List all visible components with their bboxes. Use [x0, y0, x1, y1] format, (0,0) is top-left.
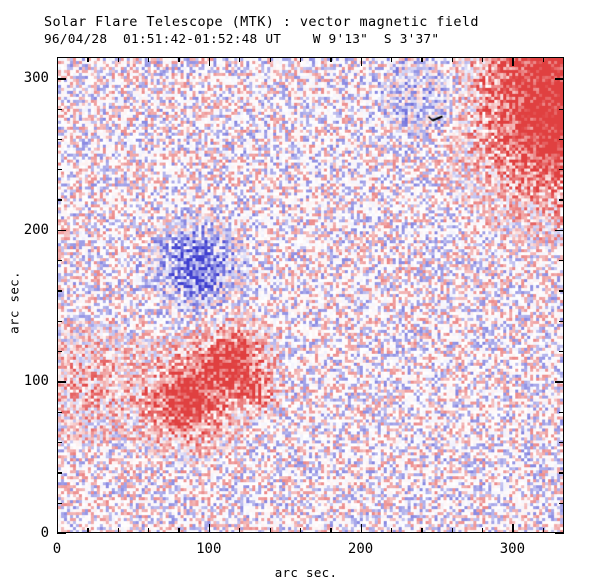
- axis-tick: [391, 528, 392, 533]
- axis-tick: [559, 442, 564, 443]
- axis-tick: [559, 139, 564, 140]
- axis-tick: [559, 109, 564, 110]
- axis-tick: [270, 528, 271, 533]
- axis-tick: [452, 528, 453, 533]
- axis-tick: [178, 528, 179, 533]
- axis-tick: [57, 533, 66, 534]
- y-axis-title: arc sec.: [7, 263, 22, 343]
- title-block: Solar Flare Telescope (MTK) : vector mag…: [44, 14, 584, 48]
- x-tick-label: 100: [196, 541, 221, 557]
- axis-tick: [361, 57, 362, 66]
- axis-tick: [57, 381, 66, 382]
- plot-subtitle: 96/04/28 01:51:42-01:52:48 UT W 9'13" S …: [44, 31, 584, 48]
- axis-tick: [559, 472, 564, 473]
- axis-tick: [57, 290, 62, 291]
- axis-tick: [87, 528, 88, 533]
- axis-tick: [559, 503, 564, 504]
- axis-tick: [482, 528, 483, 533]
- axis-tick: [482, 57, 483, 62]
- axis-tick: [57, 169, 62, 170]
- axis-tick: [87, 57, 88, 62]
- y-tick-label: 100: [3, 373, 49, 389]
- axis-tick: [57, 230, 66, 231]
- axis-tick: [57, 351, 62, 352]
- axis-tick: [559, 169, 564, 170]
- axis-tick: [209, 57, 210, 66]
- axis-tick: [148, 57, 149, 62]
- axis-tick: [543, 528, 544, 533]
- axis-tick: [330, 57, 331, 62]
- axis-tick: [57, 524, 58, 533]
- plot-title: Solar Flare Telescope (MTK) : vector mag…: [44, 14, 584, 31]
- axis-tick: [512, 524, 513, 533]
- axis-tick: [178, 57, 179, 62]
- axis-tick: [559, 290, 564, 291]
- axis-tick: [57, 412, 62, 413]
- axis-tick: [57, 442, 62, 443]
- axis-tick: [555, 78, 564, 79]
- axis-tick: [559, 351, 564, 352]
- x-axis-title: arc sec.: [0, 565, 612, 580]
- x-tick-label: 0: [53, 541, 61, 557]
- x-tick-label: 300: [500, 541, 525, 557]
- axis-tick: [543, 57, 544, 62]
- axis-tick: [300, 57, 301, 62]
- axis-tick: [57, 78, 66, 79]
- y-tick-label: 200: [3, 222, 49, 238]
- axis-tick: [330, 528, 331, 533]
- magnetogram-image: [58, 58, 563, 532]
- y-tick-label: 0: [3, 525, 49, 541]
- axis-tick: [57, 57, 58, 66]
- axis-tick: [559, 199, 564, 200]
- axis-tick: [512, 57, 513, 66]
- axis-tick: [57, 321, 62, 322]
- axis-tick: [555, 533, 564, 534]
- axis-tick: [57, 139, 62, 140]
- axis-tick: [57, 199, 62, 200]
- axis-tick: [421, 528, 422, 533]
- axis-tick: [239, 528, 240, 533]
- axis-tick: [559, 260, 564, 261]
- axis-tick: [421, 57, 422, 62]
- axis-tick: [452, 57, 453, 62]
- axis-tick: [57, 109, 62, 110]
- magnetogram-plot-area: [57, 57, 564, 533]
- axis-tick: [391, 57, 392, 62]
- axis-tick: [57, 472, 62, 473]
- axis-tick: [300, 528, 301, 533]
- x-tick-label: 200: [348, 541, 373, 557]
- axis-tick: [57, 503, 62, 504]
- axis-tick: [559, 321, 564, 322]
- axis-tick: [239, 57, 240, 62]
- axis-tick: [559, 412, 564, 413]
- axis-tick: [118, 528, 119, 533]
- y-tick-label: 300: [3, 70, 49, 86]
- axis-tick: [209, 524, 210, 533]
- axis-tick: [118, 57, 119, 62]
- axis-tick: [361, 524, 362, 533]
- axis-tick: [148, 528, 149, 533]
- axis-tick: [555, 381, 564, 382]
- axis-tick: [57, 260, 62, 261]
- axis-tick: [555, 230, 564, 231]
- axis-tick: [270, 57, 271, 62]
